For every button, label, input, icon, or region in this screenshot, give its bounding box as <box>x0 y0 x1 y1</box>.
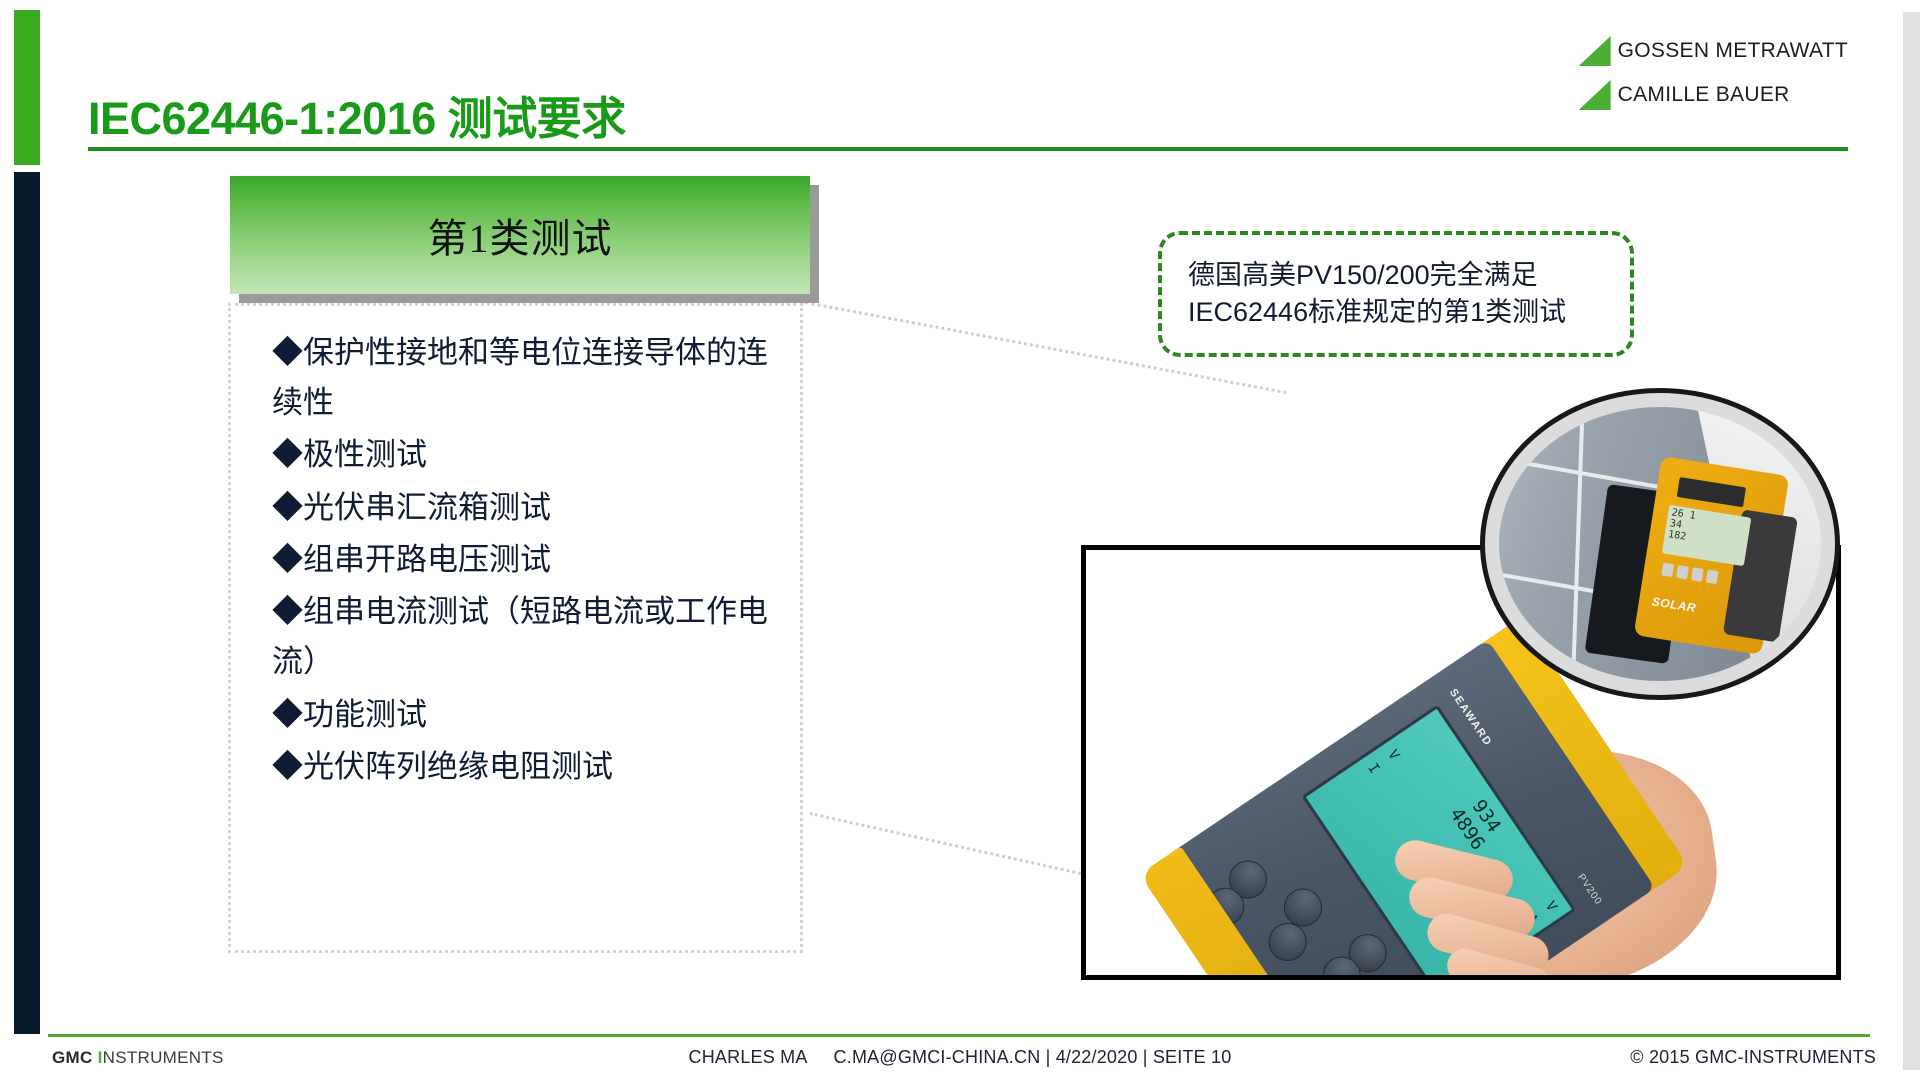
list-item: ◆保护性接地和等电位连接导体的连续性 <box>272 328 792 428</box>
brand-logo: GOSSEN METRAWATT CAMILLE BAUER <box>1579 36 1848 110</box>
inset-ring: 26 1 34 182 SOLAR <box>1499 407 1821 681</box>
list-item: ◆光伏串汇流箱测试 <box>272 483 792 533</box>
page-title: IEC62446-1:2016 测试要求 <box>88 82 626 147</box>
keypad-button <box>1661 562 1674 577</box>
panel-gridline <box>1569 407 1585 681</box>
connector-line-bottom <box>809 812 1093 878</box>
lcd-row1-unit: V <box>1536 899 1560 919</box>
logo-label-gossen-metrawatt: GOSSEN METRAWATT <box>1618 39 1848 63</box>
keypad-button <box>1691 567 1704 582</box>
keypad-button <box>1706 569 1719 584</box>
device-model-label: PV200 <box>1575 872 1604 907</box>
title-underline-rule <box>88 147 1848 151</box>
footer-author-name: CHARLES MA <box>689 1047 808 1067</box>
section-header-banner: 第1类测试 <box>230 176 810 294</box>
footer-divider-rule <box>48 1034 1870 1037</box>
list-item: ◆组串电流测试（短路电流或工作电流） <box>272 587 792 687</box>
window-scrollbar[interactable] <box>1903 12 1920 1070</box>
callout-box: 德国高美PV150/200完全满足 IEC62446标准规定的第1类测试 <box>1158 231 1634 357</box>
triangle-icon <box>1579 80 1611 110</box>
device-top-slot <box>1676 477 1745 507</box>
irradiance-meter-device: 26 1 34 182 SOLAR <box>1634 456 1789 655</box>
logo-row-camille-bauer: CAMILLE BAUER <box>1579 80 1848 110</box>
callout-line-1: 德国高美PV150/200完全满足 <box>1188 257 1566 294</box>
inset-keypad <box>1661 562 1718 584</box>
inset-lcd-screen: 26 1 34 182 <box>1662 504 1751 565</box>
product-photo-inset: 26 1 34 182 SOLAR <box>1480 388 1840 700</box>
inset-brand-label: SOLAR <box>1651 594 1697 615</box>
left-accent-bar-green <box>14 10 40 165</box>
list-item: ◆光伏阵列绝缘电阻测试 <box>272 742 792 792</box>
list-item: ◆功能测试 <box>272 690 792 740</box>
section-header-label: 第1类测试 <box>428 206 613 264</box>
logo-label-camille-bauer: CAMILLE BAUER <box>1618 83 1790 107</box>
lcd-row4-label: I <box>1359 760 1383 780</box>
list-item: ◆组串开路电压测试 <box>272 535 792 585</box>
triangle-icon <box>1579 36 1611 66</box>
logo-row-gossen-metrawatt: GOSSEN METRAWATT <box>1579 36 1848 66</box>
callout-text: 德国高美PV150/200完全满足 IEC62446标准规定的第1类测试 <box>1188 257 1566 332</box>
test-requirements-list: ◆保护性接地和等电位连接导体的连续性 ◆极性测试 ◆光伏串汇流箱测试 ◆组串开路… <box>272 328 792 794</box>
keypad-button <box>1676 564 1689 579</box>
footer-copyright: © 2015 GMC-INSTRUMENTS <box>1630 1047 1876 1068</box>
list-item: ◆极性测试 <box>272 430 792 480</box>
lcd-row3-label: V <box>1378 747 1402 767</box>
footer-meta: C.MA@GMCI-CHINA.CN | 4/22/2020 | SEITE 1… <box>834 1047 1232 1067</box>
left-accent-bar-navy <box>14 172 40 1034</box>
callout-line-2: IEC62446标准规定的第1类测试 <box>1188 294 1566 331</box>
